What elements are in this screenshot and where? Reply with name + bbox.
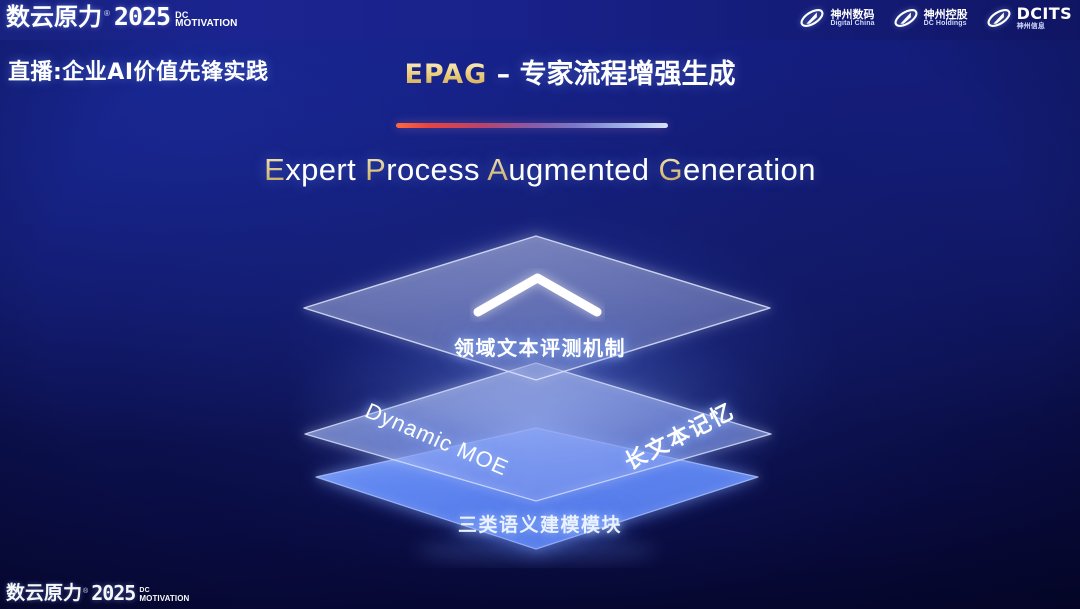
partner-text: 神州控股 DC Holdings (924, 9, 968, 28)
brand-dc-motivation: DC MOTIVATION (175, 11, 237, 29)
footer-brand-year: 2025 (91, 583, 135, 603)
partner-text: 神州数码 Digital China (830, 9, 874, 28)
brand-year: 2025 (114, 4, 170, 29)
partner-name-en: 神州信息 (1017, 23, 1072, 30)
slide-canvas: 数云原力 ® 2025 DC MOTIVATION 神州数码 Digital C… (0, 0, 1080, 609)
swoosh-icon (986, 5, 1012, 31)
footer-brand-dc-line2: MOTIVATION (139, 595, 189, 602)
partner-logo-dc-holdings: 神州控股 DC Holdings (893, 5, 968, 31)
brand-registered-mark: ® (104, 9, 110, 18)
footer-brand-name-cn: 数云原力 (6, 584, 82, 603)
partner-name-en: Digital China (830, 20, 874, 27)
brand-dc-line2: MOTIVATION (175, 19, 237, 28)
partner-logo-dcits: DCITS 神州信息 (986, 5, 1072, 31)
footer-brand-watermark: 数云原力 ® 2025 DC MOTIVATION (6, 4, 1070, 603)
brand-logo: 数云原力 ® 2025 DC MOTIVATION (6, 4, 237, 29)
partner-logo-digital-china: 神州数码 Digital China (799, 5, 874, 31)
footer-brand-dc-motivation: DC MOTIVATION (139, 588, 189, 603)
swoosh-icon (893, 5, 919, 31)
footer-brand-registered-mark: ® (83, 588, 88, 595)
swoosh-icon (799, 5, 825, 31)
partner-name-cn: DCITS (1017, 6, 1072, 23)
partner-name-en: DC Holdings (924, 20, 968, 27)
partner-text: DCITS 神州信息 (1017, 6, 1072, 30)
partner-name-cn: 神州数码 (830, 9, 874, 21)
brand-name-cn: 数云原力 (6, 5, 102, 29)
partner-name-cn: 神州控股 (924, 9, 968, 21)
partner-logo-group: 神州数码 Digital China 神州控股 DC Holdings DCIT… (799, 5, 1072, 31)
